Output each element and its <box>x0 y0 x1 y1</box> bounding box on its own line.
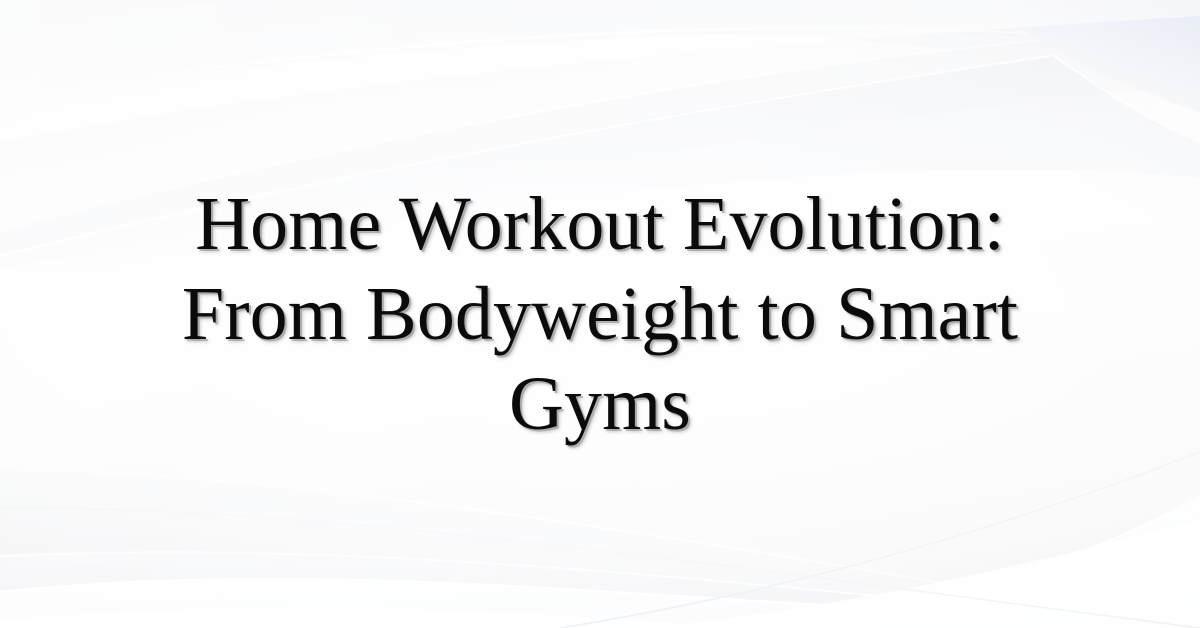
title-banner-card: Home Workout Evolution: From Bodyweight … <box>0 0 1200 628</box>
page-title: Home Workout Evolution: From Bodyweight … <box>150 179 1050 449</box>
title-area: Home Workout Evolution: From Bodyweight … <box>0 0 1200 628</box>
